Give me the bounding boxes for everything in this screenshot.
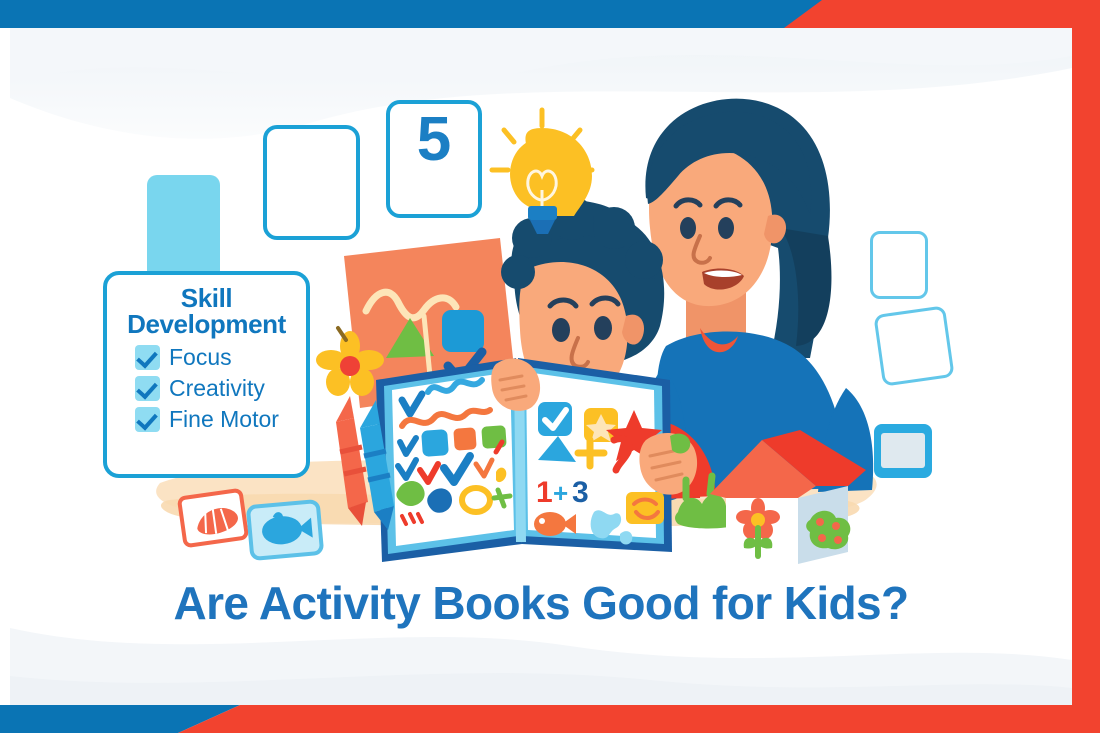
flower-flashcard[interactable] <box>873 305 954 386</box>
skill-item-label: Fine Motor <box>169 407 279 432</box>
apple-flashcard[interactable] <box>263 125 360 240</box>
checkbox-checked-icon[interactable] <box>135 407 160 432</box>
skill-card-title: Skill Development <box>115 285 298 337</box>
leaf-flashcard[interactable] <box>147 175 220 282</box>
svg-text:+: + <box>553 478 568 508</box>
skill-checklist: Focus Creativity Fine Motor <box>115 345 298 432</box>
poster-canvas: 1 + 3 <box>0 0 1100 733</box>
shell-card <box>179 490 247 546</box>
number-flashcard[interactable]: 5 <box>386 100 482 218</box>
bottom-frame-bar <box>0 705 1100 733</box>
checkbox-checked-icon[interactable] <box>135 376 160 401</box>
skill-item-label: Focus <box>169 345 232 370</box>
skill-list-item[interactable]: Creativity <box>135 376 298 401</box>
activity-book: 1 + 3 <box>376 358 697 562</box>
fish-card <box>248 501 322 559</box>
skill-list-item[interactable]: Focus <box>135 345 298 370</box>
skill-title-line2: Development <box>127 309 286 339</box>
svg-text:1: 1 <box>536 476 553 509</box>
top-bar-blue-segment <box>0 0 860 28</box>
heart-flashcard[interactable] <box>874 424 932 478</box>
skill-item-label: Creativity <box>169 376 265 401</box>
heart-card-inner <box>881 433 925 468</box>
skill-list-item[interactable]: Fine Motor <box>135 407 298 432</box>
page-title: Are Activity Books Good for Kids? <box>10 576 1072 630</box>
right-frame-edge <box>1072 0 1100 733</box>
svg-text:3: 3 <box>572 476 589 509</box>
skill-development-card[interactable]: Skill Development Focus Creativity Fine … <box>103 271 310 478</box>
number-card-value: 5 <box>390 106 478 174</box>
illustration-area: 1 + 3 <box>10 28 1072 705</box>
checkbox-checked-icon[interactable] <box>135 345 160 370</box>
top-frame-bar <box>0 0 1100 28</box>
strawberry-flashcard[interactable] <box>870 231 928 299</box>
